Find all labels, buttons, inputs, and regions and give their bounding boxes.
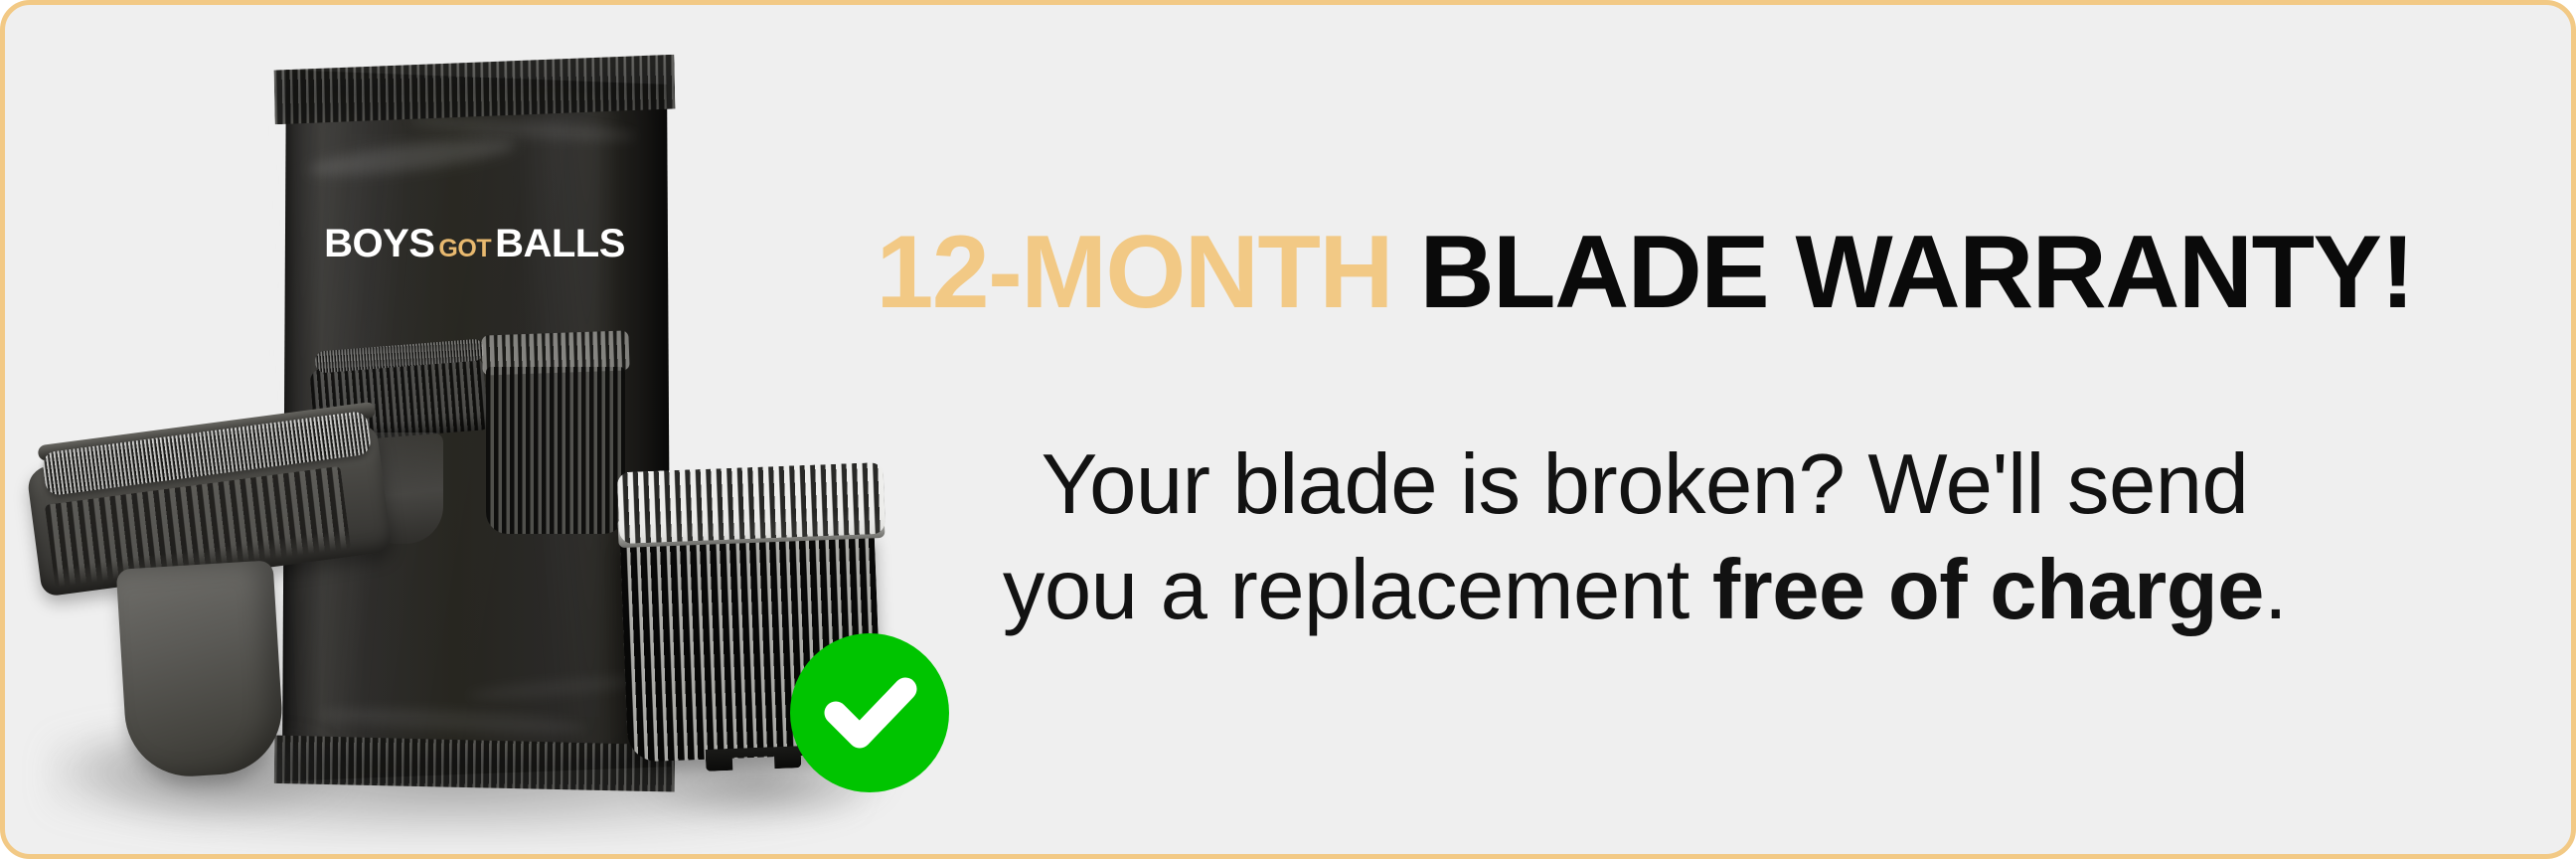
headline-main: BLADE WARRANTY! — [1419, 215, 2413, 330]
brand-logo: BOYSGOTBALLS — [278, 222, 671, 266]
subcopy: Your blade is broken? We'll send you a r… — [860, 432, 2430, 644]
foil-shaver-head — [15, 408, 404, 825]
copy-column: 12-MONTH BLADE WARRANTY! Your blade is b… — [760, 5, 2529, 859]
check-mark-glyph — [790, 633, 949, 792]
trimmer-blade-comb-teeth — [617, 462, 886, 544]
brand-logo-part2: GOT — [434, 235, 495, 262]
subcopy-line-2-suffix: . — [2264, 543, 2287, 637]
headline: 12-MONTH BLADE WARRANTY! — [760, 219, 2529, 327]
headline-accent: 12-MONTH — [876, 215, 1392, 330]
foil-shaver-grip — [116, 560, 286, 779]
brand-logo-part1: BOYS — [324, 222, 434, 265]
subcopy-line-1: Your blade is broken? We'll send — [860, 432, 2430, 538]
subcopy-line-2-prefix: you a replacement — [1003, 543, 1712, 637]
brand-logo-part3: BALLS — [495, 222, 625, 265]
warranty-banner: BOYSGOTBALLS — [0, 0, 2576, 859]
check-circle-icon — [790, 633, 949, 792]
subcopy-line-2: you a replacement free of charge. — [860, 538, 2430, 643]
subcopy-line-2-strong: free of charge — [1712, 543, 2264, 637]
